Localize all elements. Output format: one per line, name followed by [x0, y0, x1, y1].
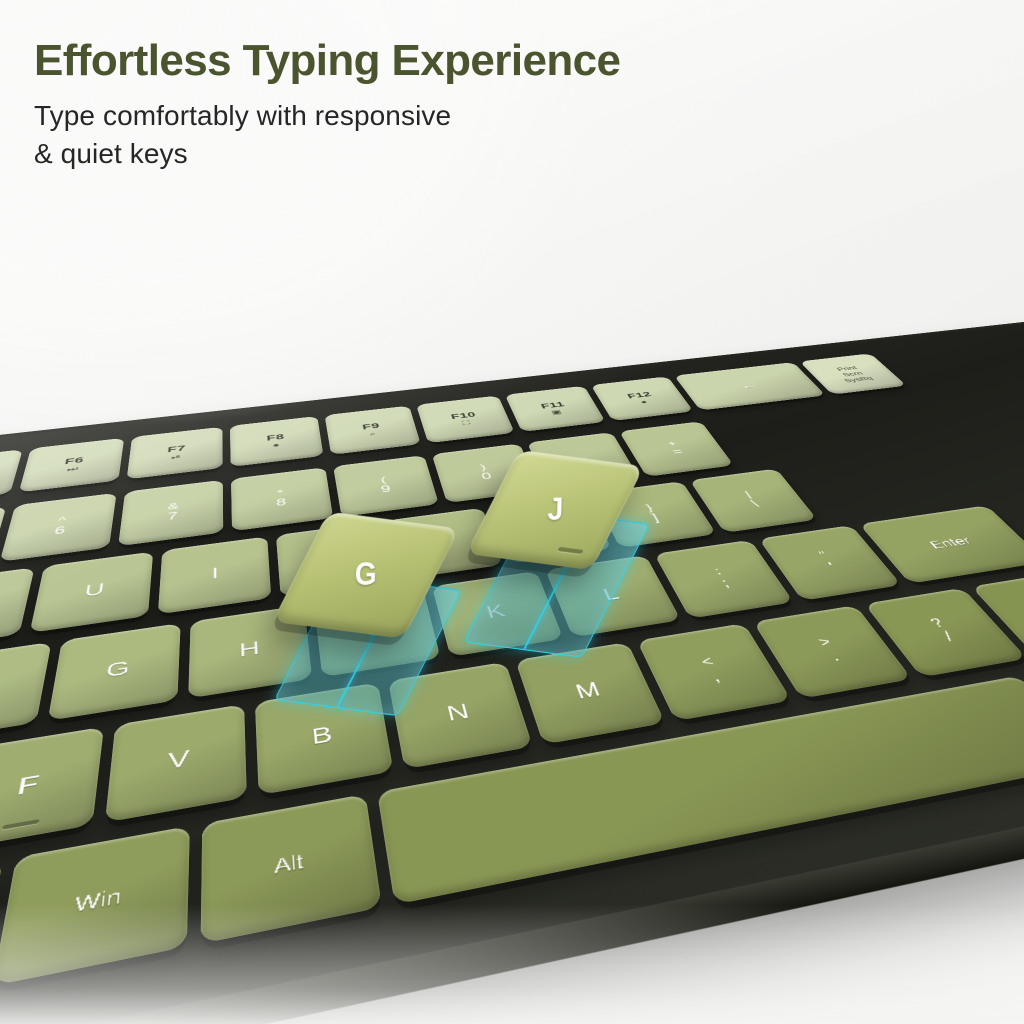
key-lower-legend: 8 — [276, 497, 287, 509]
fkey-name: F9 — [362, 422, 381, 431]
number-key-lower: 8 — [276, 497, 287, 509]
headline-block: Effortless Typing Experience Type comfor… — [34, 38, 620, 174]
fkey-stack: F6⏭ — [62, 456, 84, 473]
fkey-name: F8 — [266, 433, 284, 442]
page-title: Effortless Typing Experience — [34, 38, 620, 85]
play-pause-icon: ⏯ — [171, 453, 181, 460]
next-track-icon: ⏭ — [67, 465, 79, 472]
page-subtitle: Type comfortably with responsive & quiet… — [34, 97, 620, 174]
fkey-name: F11 — [540, 401, 566, 410]
fkey-name: F7 — [167, 444, 186, 453]
screenshot-icon: ⛶ — [461, 419, 470, 425]
subtitle-line-2: & quiet keys — [34, 135, 620, 174]
fkey-stack: F8● — [266, 433, 285, 449]
record-dot-icon: ● — [639, 399, 648, 405]
keyboard-3d-body: F4⊗F5⏮F6⏭F7⏯F8●F9⌕F10⛶F11▣F12●←PrintScrn… — [0, 336, 1024, 1024]
subtitle-line-1: Type comfortably with responsive — [34, 97, 620, 136]
